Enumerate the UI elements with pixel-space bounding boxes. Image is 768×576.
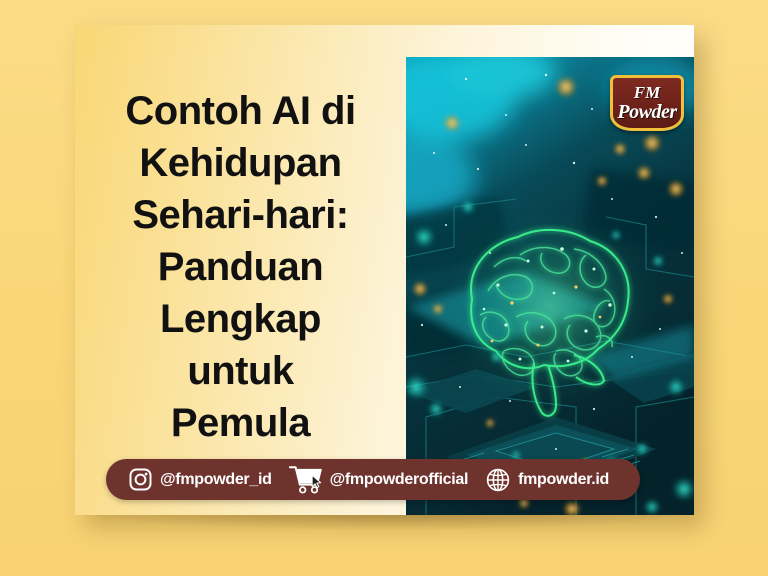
globe-icon [485,467,511,493]
logo-line-2: Powder [617,102,676,122]
title-line-7: Pemula [75,397,406,449]
logo-text: FM Powder [610,75,684,131]
fm-powder-logo: FM Powder [610,75,684,131]
ai-brain-photo: FM Powder [406,57,694,515]
social-handles-bar: @fmpowder_id @fmpowderofficial fmpowder.… [106,459,640,500]
poster-card: Contoh AI di Kehidupan Sehari-hari: Pand… [75,25,694,515]
social-label-shopee: @fmpowderofficial [330,471,469,489]
title-line-4: Panduan [75,241,406,293]
title-line-5: Lengkap [75,293,406,345]
social-item-shopee[interactable]: @fmpowderofficial [289,464,469,495]
shopping-cart-icon [289,464,323,495]
title-line-1: Contoh AI di [75,85,406,137]
instagram-icon [128,467,153,492]
page-title: Contoh AI di Kehidupan Sehari-hari: Pand… [75,85,406,449]
social-item-instagram[interactable]: @fmpowder_id [128,467,272,492]
title-line-3: Sehari-hari: [75,189,406,241]
social-item-website[interactable]: fmpowder.id [485,467,609,493]
title-line-2: Kehidupan [75,137,406,189]
title-line-6: untuk [75,345,406,397]
social-label-website: fmpowder.id [518,471,609,489]
logo-line-1: FM [634,84,660,101]
social-label-instagram: @fmpowder_id [160,471,272,489]
